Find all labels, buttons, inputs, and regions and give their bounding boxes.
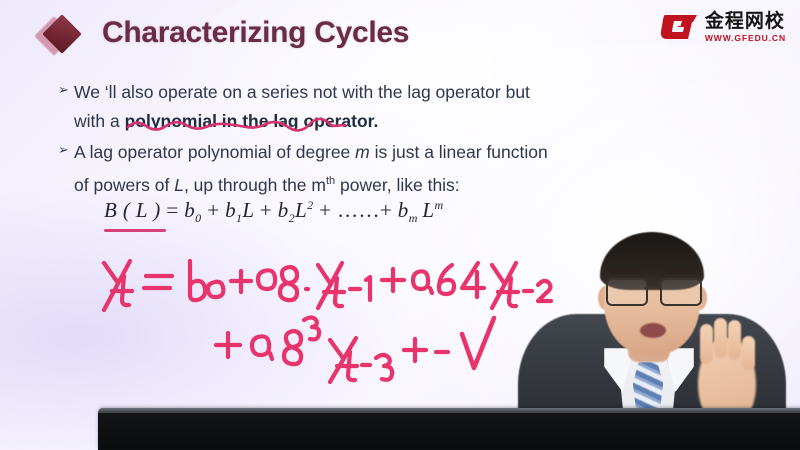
formula-term-2-var: L xyxy=(295,198,307,222)
brand-url: WWW.GFEDU.CN xyxy=(705,34,786,43)
formula-ellipsis: …… xyxy=(337,198,380,222)
bullet-2-line-2c: power, like this: xyxy=(335,175,460,195)
formula-underline-annotation xyxy=(104,229,166,232)
laptop-top-edge xyxy=(98,408,800,413)
presenter-eyebrow-left xyxy=(610,269,638,274)
bullet-item-2: ➢ A lag operator polynomial of degree m … xyxy=(58,138,548,200)
lag-polynomial-formula: B ( L ) = b0 + b1L + b2L2 + ……+ bm Lm xyxy=(104,198,444,226)
bullet-1-text: We ‘ll also operate on a series not with… xyxy=(74,78,530,136)
page-title: Characterizing Cycles xyxy=(102,16,409,50)
laptop-screen-back xyxy=(98,408,800,450)
bullet-1-line-2-prefix: with a xyxy=(74,111,125,131)
bullet-1-line-1: We ‘ll also operate on a series not with… xyxy=(74,82,530,102)
formula-term-0: b0 xyxy=(184,198,201,222)
presenter-finger xyxy=(714,318,727,358)
bullet-2-var-m: m xyxy=(355,142,370,162)
formula-term-2: b2L2 xyxy=(278,198,314,222)
formula-term-4-var: L xyxy=(422,198,434,222)
presenter-finger xyxy=(728,320,741,360)
presenter-eyebrow-right xyxy=(666,269,694,274)
formula-plus-1: + xyxy=(207,198,219,222)
bullet-2-line-2b: , up through the m xyxy=(184,175,326,195)
formula-term-1: b1L xyxy=(225,198,254,222)
glasses-bridge xyxy=(644,287,660,289)
formula-plus-2: + xyxy=(260,198,272,222)
bullet-2-var-l: L xyxy=(174,175,184,195)
brand-logo: 金程网校 WWW.GFEDU.CN xyxy=(659,12,786,43)
formula-term-1-var: L xyxy=(242,198,254,222)
bullet-2-line-2a: of powers of xyxy=(74,175,174,195)
bullet-2-superscript-th: th xyxy=(326,175,335,187)
bullet-item-1: ➢ We ‘ll also operate on a series not wi… xyxy=(58,78,530,136)
bullet-1-emphasis: polynomial in the lag operator. xyxy=(125,111,379,131)
glasses-lens-left xyxy=(606,278,648,306)
bullet-2-line-1b: is just a linear function xyxy=(370,142,548,162)
formula-plus-4: + xyxy=(380,198,392,222)
formula-term-4-sub: m xyxy=(409,211,418,225)
presenter-mouth xyxy=(640,323,666,338)
bullet-arrow-icon: ➢ xyxy=(58,139,74,161)
lecture-slide-screen: Characterizing Cycles 金程网校 WWW.GFEDU.CN … xyxy=(0,0,800,450)
bullet-arrow-icon: ➢ xyxy=(58,79,74,101)
formula-term-2-pow: 2 xyxy=(307,198,313,212)
diamond-bullet-icon xyxy=(38,16,84,62)
gfedu-g-mark-icon xyxy=(659,12,699,42)
bullet-2-text: A lag operator polynomial of degree m is… xyxy=(74,138,548,200)
formula-equals: = xyxy=(166,198,178,222)
brand-name-cn: 金程网校 xyxy=(705,12,786,31)
formula-term-4-pow: m xyxy=(434,198,443,212)
presenter-glasses-icon xyxy=(604,278,702,304)
presenter-finger xyxy=(742,336,755,370)
presenter-finger xyxy=(700,324,713,364)
formula-term-0-sub: 0 xyxy=(195,211,201,225)
bullet-2-line-1a: A lag operator polynomial of degree xyxy=(74,142,355,162)
formula-term-4: bm Lm xyxy=(398,198,444,222)
glasses-lens-right xyxy=(660,278,702,306)
formula-lhs: B ( L ) xyxy=(104,198,161,222)
formula-plus-3: + xyxy=(319,198,331,222)
